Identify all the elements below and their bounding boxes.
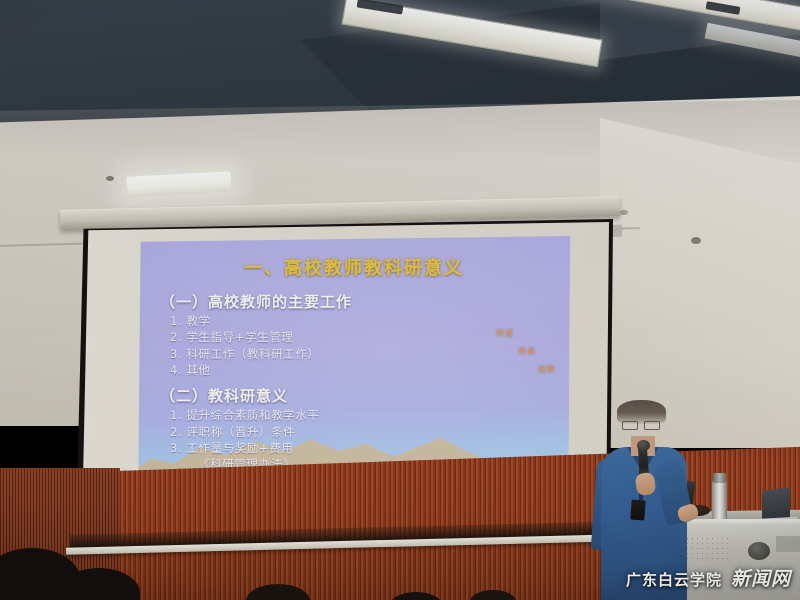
slide-list-item: 1. 提升综合素质和教学水平 <box>170 407 570 423</box>
watermark: 广东白云学院 新闻网 <box>626 564 791 591</box>
slide-note: 传道 <box>496 328 556 339</box>
ceiling-sensor-icon <box>691 237 701 244</box>
ceiling-sensor-icon <box>620 210 628 215</box>
thermos-cap <box>713 473 726 483</box>
slide-list-item: 1. 教学 <box>170 313 570 329</box>
ceiling-sensor-icon <box>106 176 114 181</box>
podium-knob <box>748 542 770 560</box>
watermark-organization: 广东白云学院 <box>626 569 722 590</box>
podium-speaker-grille <box>680 536 728 562</box>
slide-title: 一、高校教师教科研意义 <box>138 254 570 280</box>
microphone-head-icon <box>637 440 650 451</box>
slide-section-heading: （一）高校教师的主要工作 <box>160 291 570 312</box>
watermark-outlet: 新闻网 <box>731 564 791 591</box>
slide-list-item: 3. 工作量与奖励+费用 <box>170 440 570 456</box>
slide-section-heading: （二）教科研意义 <box>160 385 570 406</box>
slide-side-notes: 传道 传承 创新 <box>496 328 556 382</box>
right-wall <box>600 118 800 448</box>
thermos-icon <box>712 480 727 523</box>
glasses-icon <box>621 421 662 430</box>
slide-note: 传承 <box>518 346 556 357</box>
slide-note: 创新 <box>538 364 556 375</box>
slide-list-item: 2. 评职称（晋升）条件 <box>170 424 570 440</box>
speaker-badge <box>630 500 645 521</box>
podium-logo <box>776 536 800 552</box>
photograph-scene: 一、高校教师教科研意义 （一）高校教师的主要工作 1. 教学 2. 学生指导+学… <box>0 0 800 600</box>
